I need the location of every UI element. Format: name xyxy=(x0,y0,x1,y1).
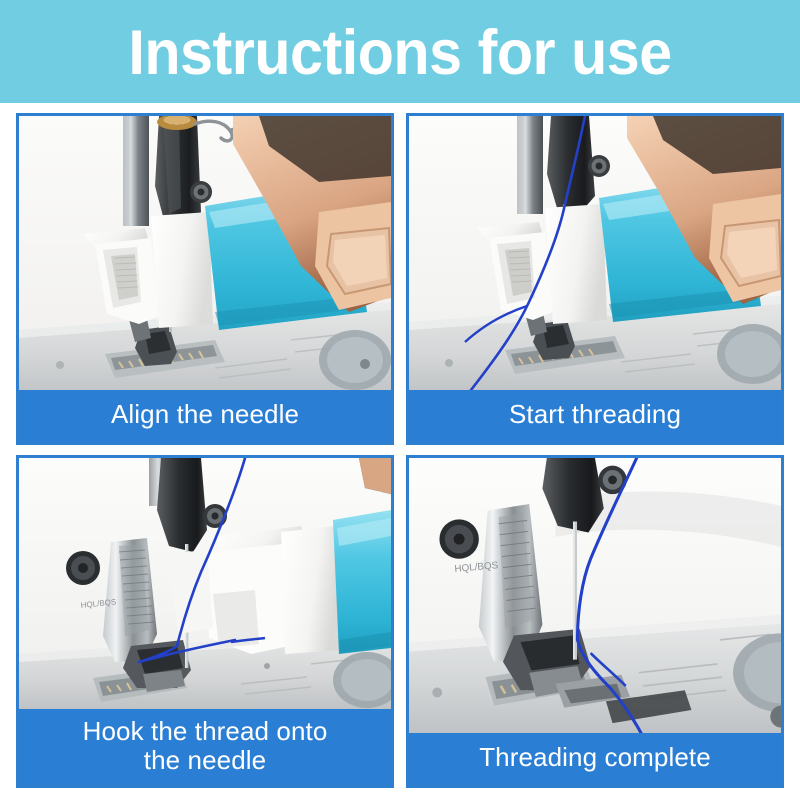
step-1-caption-text: Align the needle xyxy=(111,400,299,429)
step-1-photo xyxy=(19,116,391,390)
step-2-photo xyxy=(409,116,781,390)
step-2-caption: Start threading xyxy=(409,390,781,442)
step-3-caption: Hook the thread onto the needle xyxy=(19,709,391,785)
step-3-photo: HQL/BQS xyxy=(19,458,391,709)
step-4-caption-text: Threading complete xyxy=(479,743,711,772)
step-card-3[interactable]: HQL/BQS xyxy=(16,455,394,788)
step-1-caption: Align the needle xyxy=(19,390,391,442)
step-card-2[interactable]: Start threading xyxy=(406,113,784,445)
step-2-illustration xyxy=(409,116,781,390)
step-card-1[interactable]: Align the needle xyxy=(16,113,394,445)
step-2-caption-text: Start threading xyxy=(509,400,681,429)
step-4-photo: HQL/BQS xyxy=(409,458,781,733)
page-header-band: Instructions for use xyxy=(0,0,800,103)
steps-grid: Align the needle xyxy=(0,103,800,800)
step-4-illustration: HQL/BQS xyxy=(409,458,781,733)
step-3-illustration: HQL/BQS xyxy=(19,458,391,709)
step-3-caption-line-1: Hook the thread onto xyxy=(83,717,328,746)
step-3-caption-line-2: the needle xyxy=(144,746,266,775)
step-1-illustration xyxy=(19,116,391,390)
step-card-4[interactable]: HQL/BQS xyxy=(406,455,784,788)
instructions-page: Instructions for use xyxy=(0,0,800,800)
page-title: Instructions for use xyxy=(128,18,671,85)
step-4-caption: Threading complete xyxy=(409,733,781,785)
